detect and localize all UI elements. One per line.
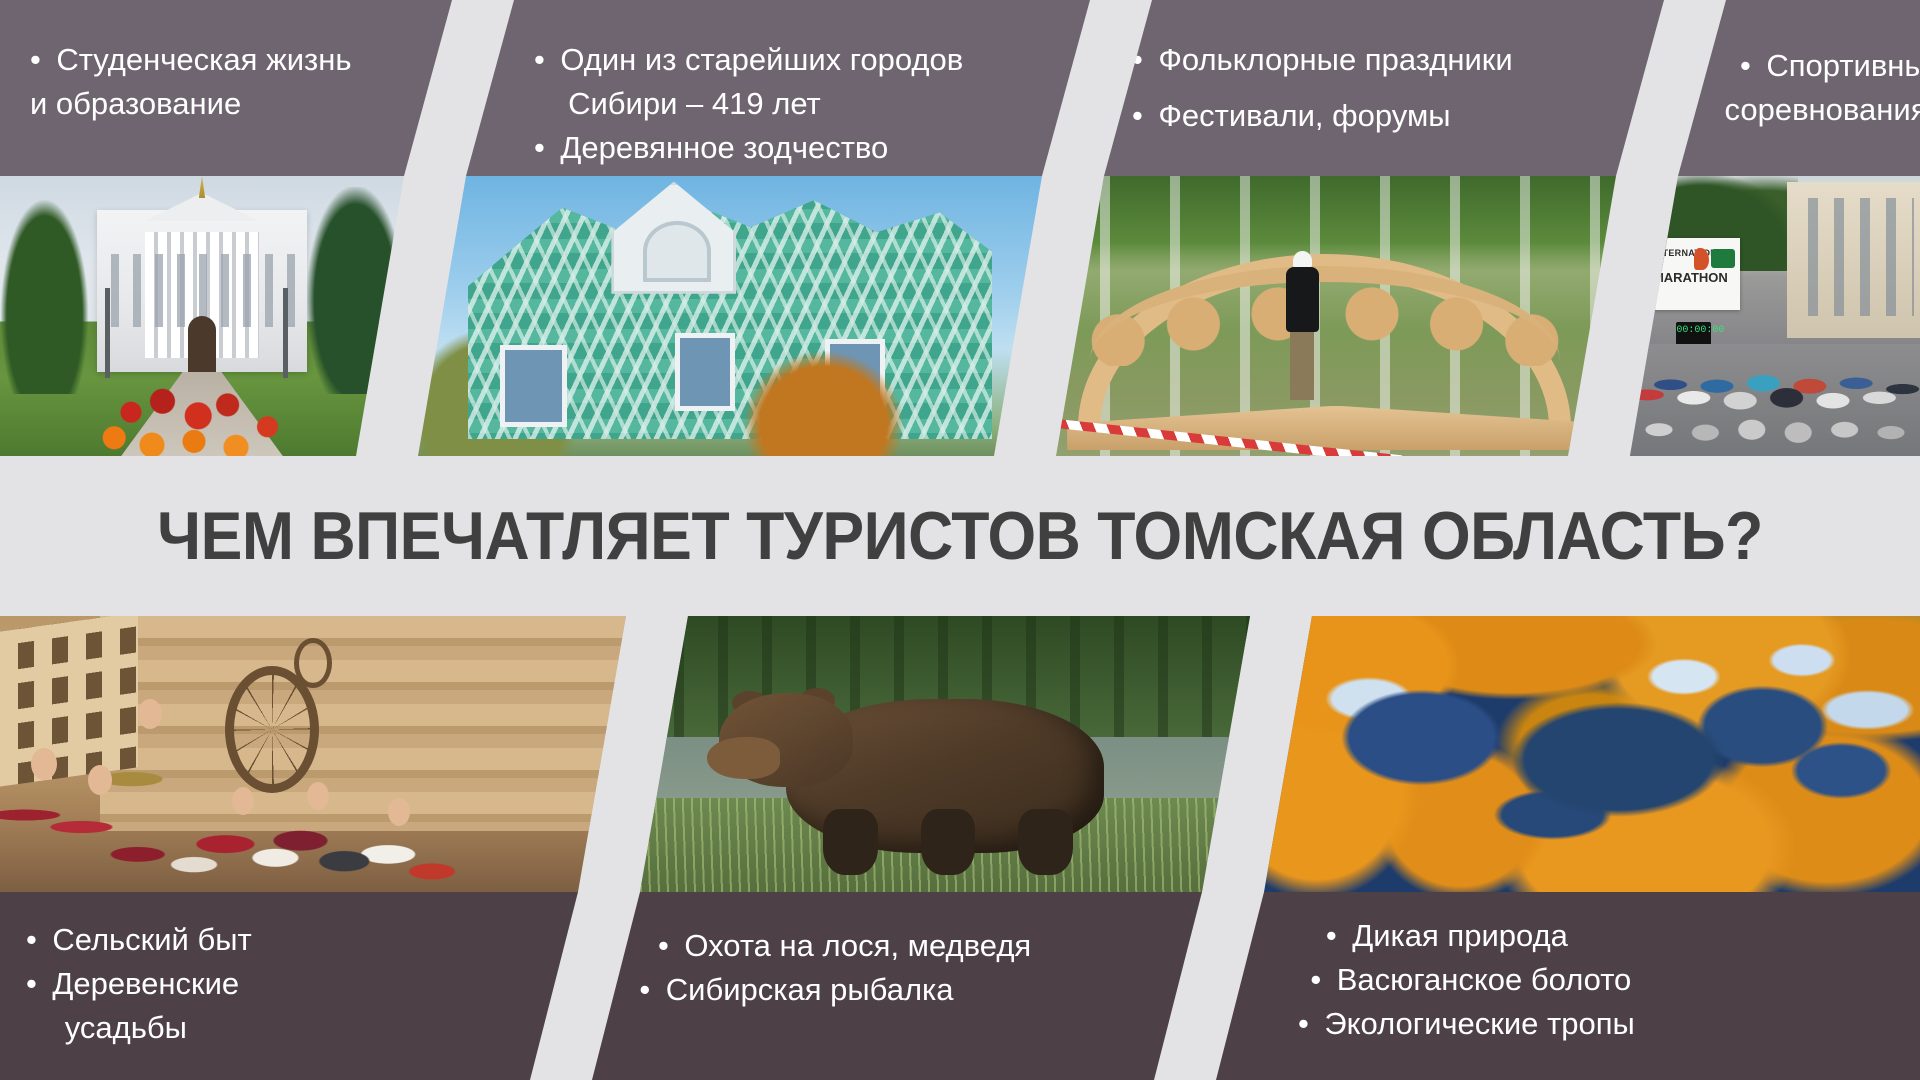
bullet-marker: • bbox=[26, 918, 52, 962]
bullet-line: •Охота на лося, медведя bbox=[658, 924, 1031, 968]
bullet-line-cont: соревнования bbox=[1725, 88, 1920, 132]
top-panel-sport: •Спортивные соревнования bbox=[1678, 0, 1920, 176]
shoe-logo-icon bbox=[1694, 248, 1709, 270]
bullet-line: •Сибирская рыбалка bbox=[639, 968, 1031, 1012]
person-head bbox=[307, 782, 329, 810]
flower-bed bbox=[89, 383, 299, 456]
bullet-line: •Спортивные bbox=[1740, 44, 1920, 88]
bullet-text: Спортивные bbox=[1766, 48, 1920, 83]
bullet-line: •Фольклорные праздники bbox=[1132, 38, 1513, 82]
arched-gable bbox=[643, 221, 712, 283]
bullet-text: усадьбы bbox=[65, 1010, 187, 1045]
bullet-text: и образование bbox=[30, 86, 241, 121]
bottom-text-band: •Сельский быт •Деревенские усадьбы •Охот… bbox=[0, 892, 1920, 1080]
house-window bbox=[505, 350, 561, 423]
bullet-text: соревнования bbox=[1725, 92, 1920, 127]
bullet-text: Дикая природа bbox=[1352, 918, 1568, 953]
bullet-line: •Один из старейших городов bbox=[534, 38, 963, 82]
tree-right bbox=[307, 187, 404, 394]
bullet-text: Один из старейших городов bbox=[560, 42, 963, 77]
bottom-panel-village: •Сельский быт •Деревенские усадьбы bbox=[0, 892, 578, 1080]
bullet-text: Фестивали, форумы bbox=[1158, 98, 1450, 133]
building-entrance bbox=[188, 316, 216, 372]
top-text-band: •Студенческая жизнь и образование •Один … bbox=[0, 0, 1920, 176]
sponsor-chip bbox=[1711, 249, 1735, 268]
village-photo-art bbox=[0, 616, 626, 892]
runner-crowd bbox=[1630, 305, 1920, 451]
bottom-panel-hunting: •Охота на лося, медведя •Сибирская рыбал… bbox=[592, 892, 1202, 1080]
wooden-bridge-festival-photo bbox=[1056, 176, 1616, 456]
bullet-text: Студенческая жизнь bbox=[56, 42, 351, 77]
small-wheel bbox=[294, 638, 332, 688]
bullet-text: Деревенские bbox=[52, 966, 239, 1001]
bullet-text: Экологические тропы bbox=[1324, 1006, 1634, 1041]
brown-bear-photo bbox=[640, 616, 1250, 892]
bullet-marker: • bbox=[639, 968, 665, 1012]
bullet-marker: • bbox=[1310, 958, 1336, 1002]
bullet-line: •Деревенские bbox=[26, 962, 252, 1006]
banner-line-2: MARATHON bbox=[1653, 270, 1728, 285]
swamp-photo-art bbox=[1264, 616, 1920, 892]
bullet-marker: • bbox=[1132, 94, 1158, 138]
marathon-photo-art: INTERNATIONAL MARATHON 00:00:00 bbox=[1630, 176, 1920, 456]
house-window bbox=[680, 338, 730, 405]
autumn-bush bbox=[742, 350, 904, 456]
bullet-text: Сибири – 419 лет bbox=[568, 86, 821, 121]
marathon-start-banner: INTERNATIONAL MARATHON bbox=[1647, 238, 1740, 311]
person-head bbox=[232, 787, 254, 815]
vasyugan-swamp-photo bbox=[1264, 616, 1920, 892]
tree-left bbox=[0, 198, 89, 394]
street-lamp bbox=[105, 288, 110, 378]
title-band: ЧЕМ ВПЕЧАТЛЯЕТ ТУРИСТОВ ТОМСКАЯ ОБЛАСТЬ? bbox=[0, 456, 1920, 616]
slide-root: •Студенческая жизнь и образование •Один … bbox=[0, 0, 1920, 1080]
bear-snout bbox=[707, 737, 780, 778]
bullet-line-cont: усадьбы bbox=[26, 1006, 252, 1050]
top-panel-old-city: •Один из старейших городов Сибири – 419 … bbox=[466, 0, 1090, 176]
bullet-text: Фольклорные праздники bbox=[1158, 42, 1512, 77]
wooden-house-photo-art bbox=[418, 176, 1042, 456]
bear-leg bbox=[921, 809, 976, 875]
bullet-marker: • bbox=[658, 924, 684, 968]
bullet-line-cont: Сибири – 419 лет bbox=[534, 82, 963, 126]
bottom-panel-nature: •Дикая природа •Васюганское болото •Экол… bbox=[1216, 892, 1920, 1080]
bullet-marker: • bbox=[1740, 44, 1766, 88]
bullet-line: •Фестивали, форумы bbox=[1132, 94, 1513, 138]
top-panel-folklore: •Фольклорные праздники •Фестивали, форум… bbox=[1104, 0, 1664, 176]
bear-photo-art bbox=[640, 616, 1250, 892]
building-spire bbox=[199, 176, 205, 198]
bullet-marker: • bbox=[26, 962, 52, 1006]
wooden-architecture-photo bbox=[418, 176, 1042, 456]
bullet-marker: • bbox=[1298, 1002, 1324, 1046]
bullet-text: Деревянное зодчество bbox=[560, 130, 888, 165]
village-life-photo bbox=[0, 616, 626, 892]
bullet-text: Сельский быт bbox=[52, 922, 251, 957]
bullet-text: Охота на лося, медведя bbox=[684, 928, 1031, 963]
building-windows bbox=[1792, 198, 1914, 316]
bullet-line: •Сельский быт bbox=[26, 918, 252, 962]
bullet-marker: • bbox=[1132, 38, 1158, 82]
photographer-figure bbox=[1286, 238, 1320, 400]
bear-leg bbox=[1018, 809, 1073, 875]
person-head bbox=[138, 699, 162, 729]
water-pools bbox=[1264, 616, 1920, 892]
bottom-image-band bbox=[0, 616, 1920, 892]
bullet-line: •Дикая природа bbox=[1326, 914, 1635, 958]
bullet-line: •Студенческая жизнь bbox=[30, 38, 352, 82]
bullet-text: Сибирская рыбалка bbox=[666, 972, 954, 1007]
bullet-marker: • bbox=[1326, 914, 1352, 958]
bear-leg bbox=[823, 809, 878, 875]
person-head bbox=[88, 765, 112, 795]
bullet-line: •Экологические тропы bbox=[1298, 1002, 1635, 1046]
university-photo-art bbox=[0, 176, 404, 456]
page-title: ЧЕМ ВПЕЧАТЛЯЕТ ТУРИСТОВ ТОМСКАЯ ОБЛАСТЬ? bbox=[77, 456, 1843, 616]
top-image-band: INTERNATIONAL MARATHON 00:00:00 bbox=[0, 176, 1920, 456]
top-panel-students: •Студенческая жизнь и образование bbox=[0, 0, 452, 176]
bullet-line-cont: и образование bbox=[30, 82, 352, 126]
tomsk-marathon-photo: INTERNATIONAL MARATHON 00:00:00 bbox=[1630, 176, 1920, 456]
torso bbox=[1286, 267, 1320, 332]
street-lamp bbox=[283, 288, 288, 378]
bullet-marker: • bbox=[534, 38, 560, 82]
bullet-text: Васюганское болото bbox=[1337, 962, 1632, 997]
legs bbox=[1290, 332, 1314, 400]
bullet-line: •Васюганское болото bbox=[1310, 958, 1634, 1002]
tomsk-state-university-photo bbox=[0, 176, 404, 456]
bullet-marker: • bbox=[534, 126, 560, 170]
bullet-line: •Деревянное зодчество bbox=[534, 126, 963, 170]
bridge-photo-art bbox=[1056, 176, 1616, 456]
bullet-marker: • bbox=[30, 38, 56, 82]
